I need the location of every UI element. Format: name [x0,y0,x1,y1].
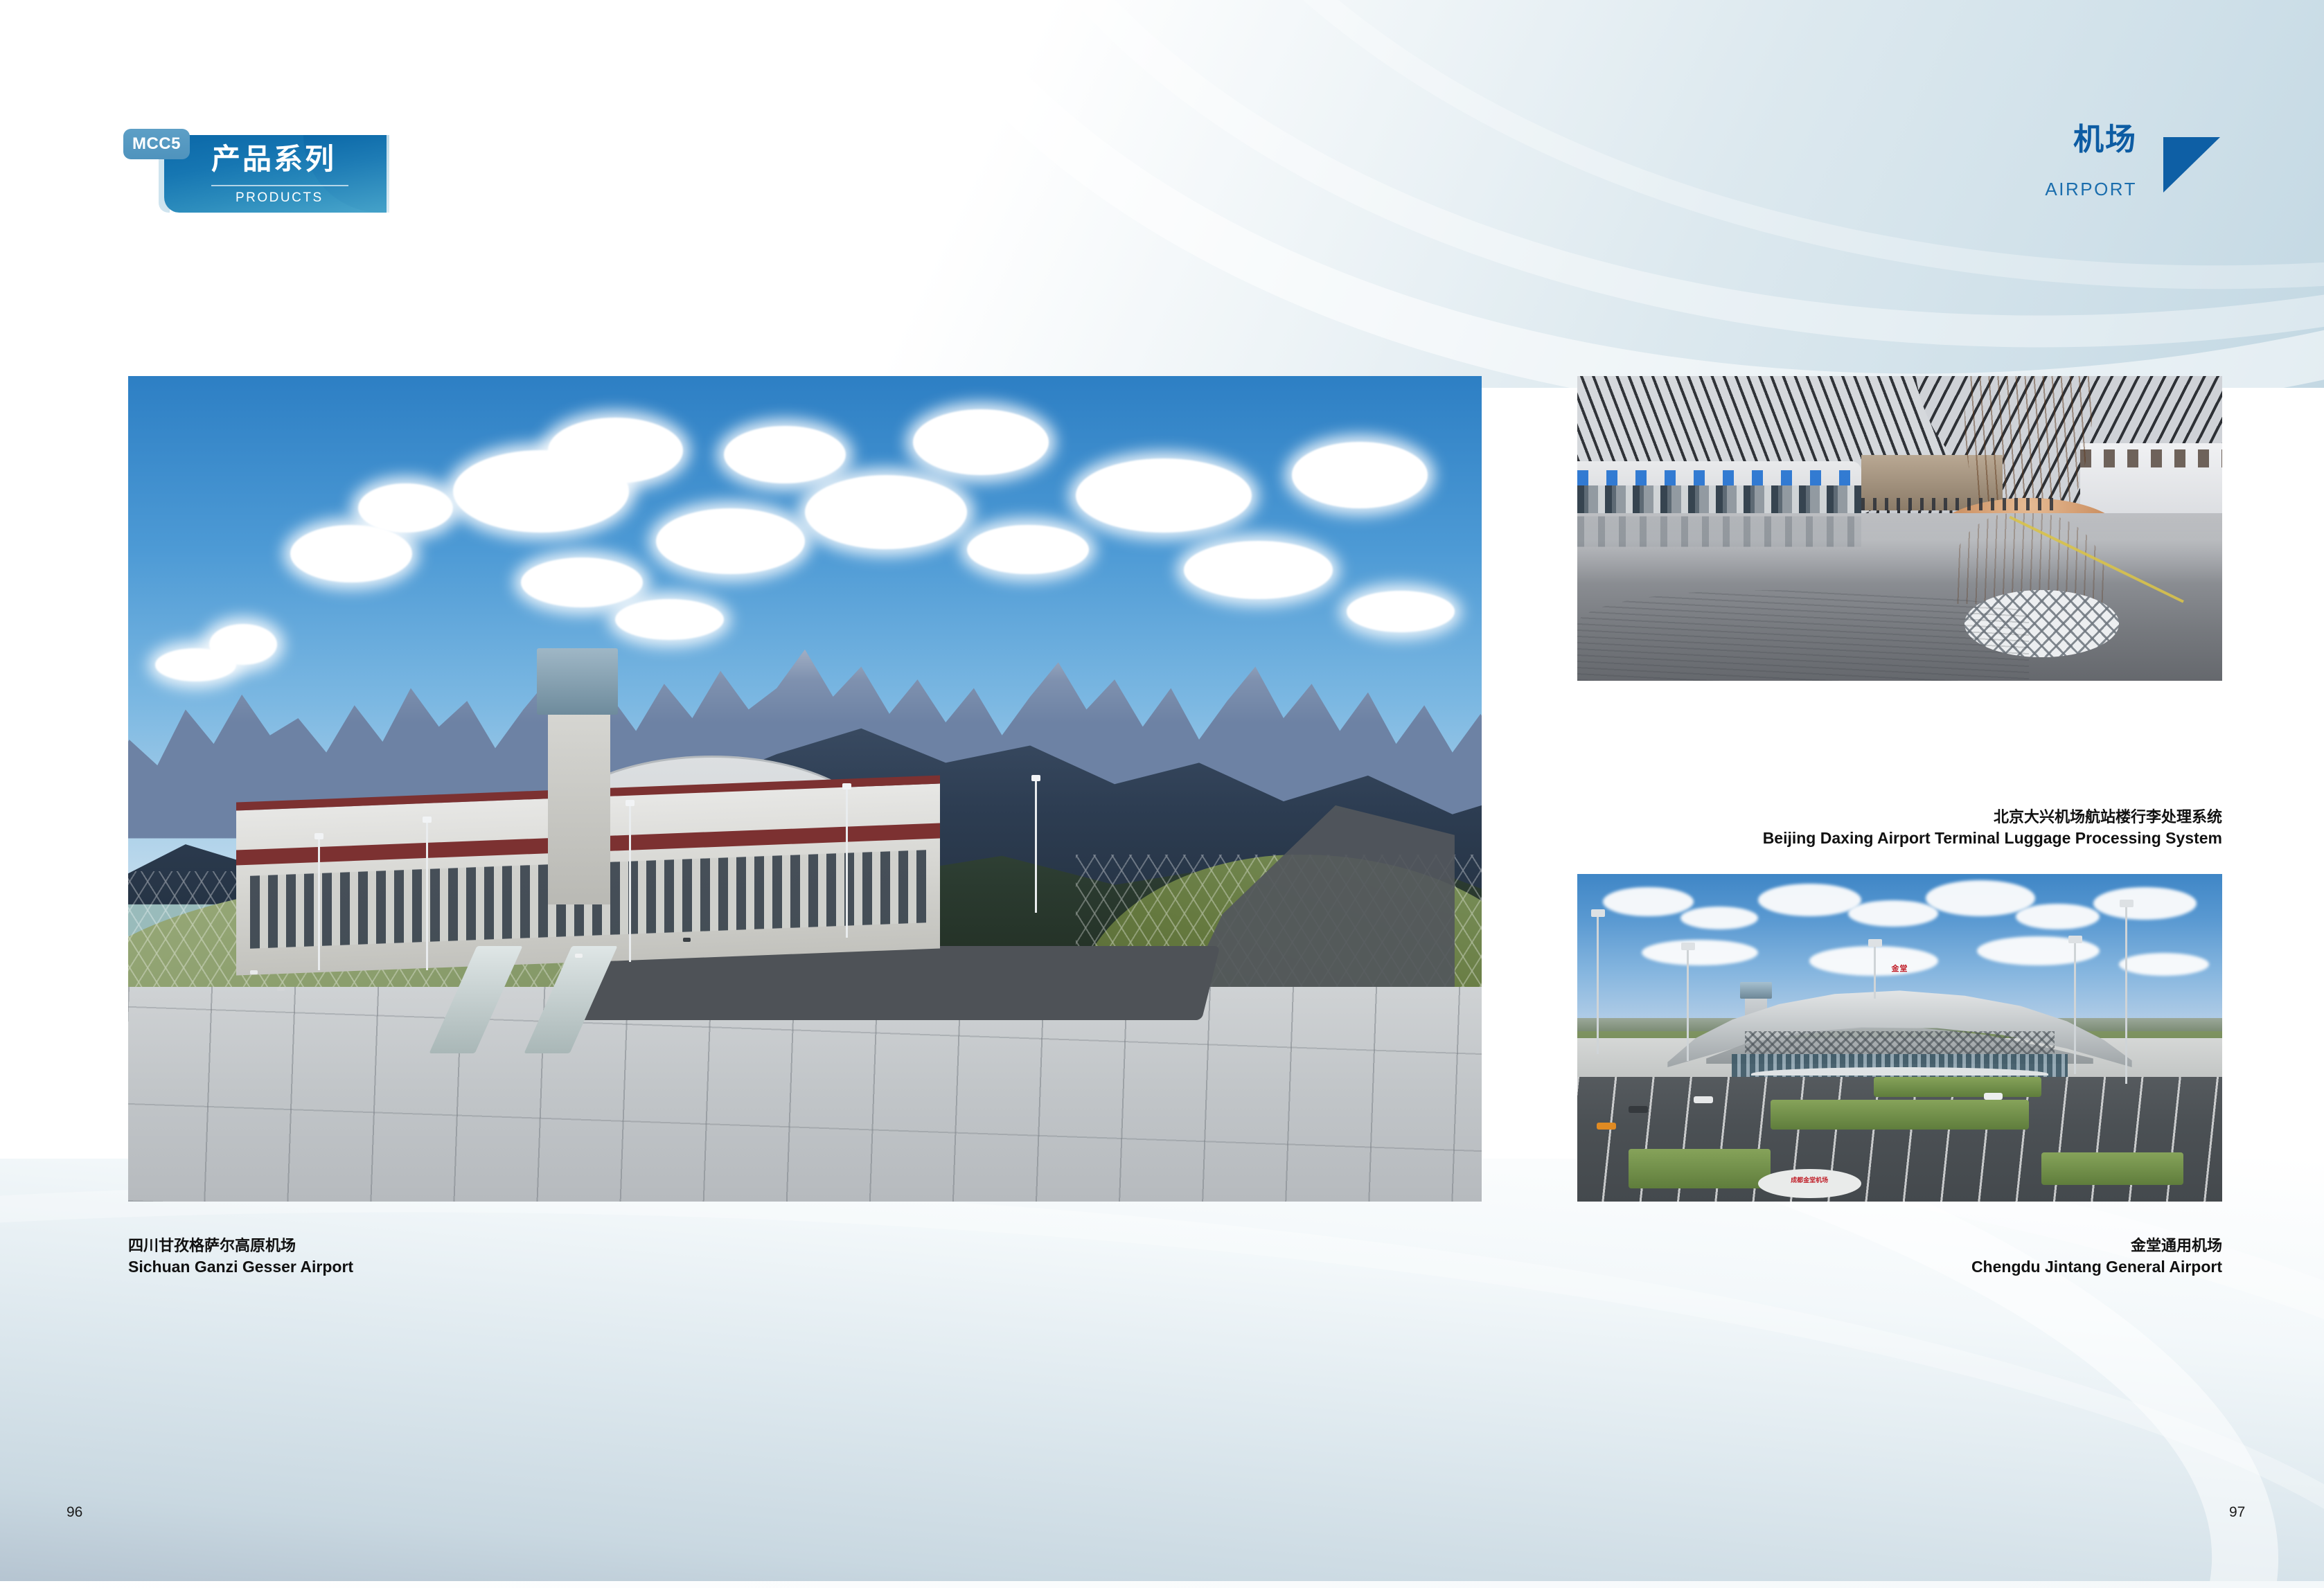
banner-title-cn: 产品系列 [211,145,336,174]
wall-right-panels [2080,449,2222,467]
cloud [913,409,1048,475]
cloud [1758,884,1861,916]
cloud [548,418,683,483]
parked-car [1694,1096,1713,1103]
landscaped-median [1771,1100,2028,1130]
caption-cn: 金堂通用机场 [1971,1235,2222,1256]
control-tower-cab [537,648,618,714]
light-mast [426,822,428,971]
cloud [1292,442,1427,508]
vehicle [250,970,258,974]
caption-ganzi: 四川甘孜格萨尔高原机场 Sichuan Ganzi Gesser Airport [128,1235,353,1278]
bottom-edge-line [0,1581,2324,1588]
cloud [967,525,1089,575]
floodlight-pole [1597,916,1599,1054]
plaza-monument-text: 成都金堂机场 [1771,1175,1848,1185]
vehicle [277,987,285,991]
caption-en: Beijing Daxing Airport Terminal Luggage … [1763,828,2222,849]
light-mast [1035,780,1037,913]
cloud [1848,900,1938,927]
page-spread: 产品系列 PRODUCTS MCC5 机场 AIRPORT [0,0,2324,1588]
mcc5-badge: MCC5 [123,129,190,159]
caption-jintang: 金堂通用机场 Chengdu Jintang General Airport [1971,1235,2222,1278]
bottom-gradient-band [0,1159,2324,1588]
section-header: 机场 AIRPORT [1992,125,2220,222]
page-number-right: 97 [2229,1504,2245,1521]
parked-car [1984,1093,2003,1100]
caption-en: Sichuan Ganzi Gesser Airport [128,1256,353,1278]
section-title-cn: 机场 [2073,125,2137,155]
banner-title-en: PRODUCTS [236,190,323,206]
cloud [1603,887,1693,917]
photo-jintang-airport: 金堂 成都金堂机场 [1577,874,2222,1202]
caption-en: Chengdu Jintang General Airport [1971,1256,2222,1278]
caption-daxing: 北京大兴机场航站楼行李处理系统 Beijing Daxing Airport T… [1763,807,2222,849]
parked-car [1597,1123,1616,1130]
floodlight-pole [2125,907,2127,1083]
triangle-icon [2163,137,2220,193]
vehicle [683,938,691,942]
floodlight-pole [1874,946,1876,999]
light-mast [846,789,848,938]
cloud [1642,940,1758,966]
light-mast [629,805,631,962]
cloud [521,557,643,607]
landscaped-median [1874,1077,2041,1096]
cloud [155,648,236,681]
cloud [1347,591,1455,632]
bottom-arc-3 [0,1147,2324,1588]
cloud [1184,541,1333,598]
cloud [2016,904,2100,930]
floor-granite-grain [1577,590,2029,681]
landscaped-median [2041,1152,2183,1185]
cloud [656,508,805,574]
cloud [615,599,723,641]
section-title-en: AIRPORT [2045,179,2137,200]
light-mast [318,839,320,971]
control-tower-cab [1740,982,1773,999]
vehicle [575,954,583,958]
parked-car [1629,1106,1648,1113]
cloud [290,525,412,582]
roof-sign: 金堂 [1848,963,1951,982]
page-number-left: 96 [66,1504,82,1521]
travellers [1861,498,2055,510]
checkin-displays [1577,470,1861,485]
caption-cn: 四川甘孜格萨尔高原机场 [128,1235,353,1256]
polished-floor [1577,513,2222,681]
entrance-canopy [1751,1067,2048,1076]
photo-daxing-terminal [1577,376,2222,681]
floodlight-pole [1687,949,1689,1061]
cloud [2119,953,2209,976]
cloud [1076,458,1252,533]
cloud [805,475,967,549]
cloud [724,426,846,483]
reflected-counters [1577,517,1861,547]
floodlight-pole [2074,943,2076,1073]
cloud [358,483,453,533]
caption-cn: 北京大兴机场航站楼行李处理系统 [1763,807,2222,828]
landscaped-median [1629,1149,1771,1188]
cloud [2093,887,2197,920]
banner-divider [211,185,348,186]
photo-ganzi-airport [128,376,1482,1202]
